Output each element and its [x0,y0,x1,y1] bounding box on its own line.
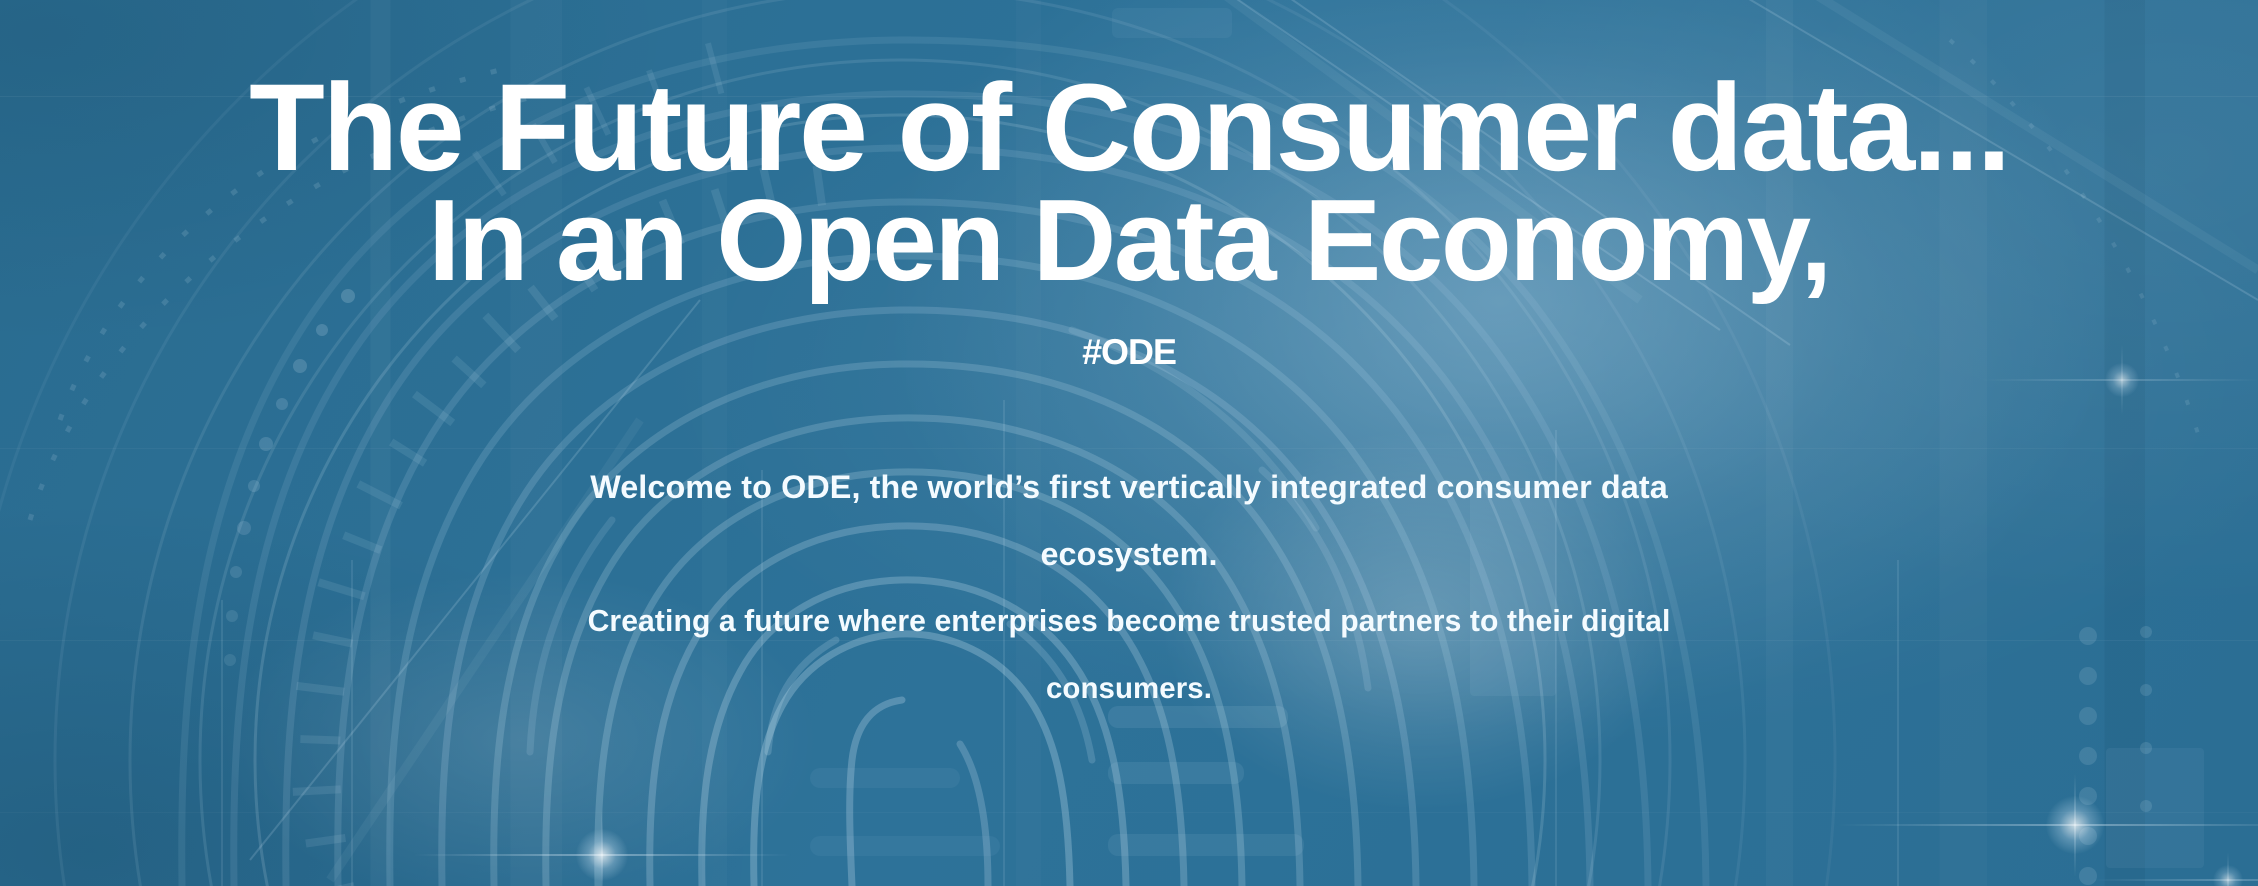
hero-banner: The Future of Consumer data... In an Ope… [0,0,2258,886]
headline-line-1: The Future of Consumer data... [64,72,2194,184]
page-title: The Future of Consumer data... In an Ope… [64,72,2194,408]
hero-content: The Future of Consumer data... In an Ope… [0,0,2258,886]
subtitle-line-3: consumers. [504,655,1754,722]
subtitle-line-2: Creating a future where enterprises beco… [504,588,1754,655]
hero-subtitle: Welcome to ODE, the world’s first vertic… [504,454,1754,722]
headline-line-2: In an Open Data Economy, [64,184,2194,296]
headline-line-3: #ODE [64,296,2194,408]
subtitle-line-1: Welcome to ODE, the world’s first vertic… [504,454,1754,588]
